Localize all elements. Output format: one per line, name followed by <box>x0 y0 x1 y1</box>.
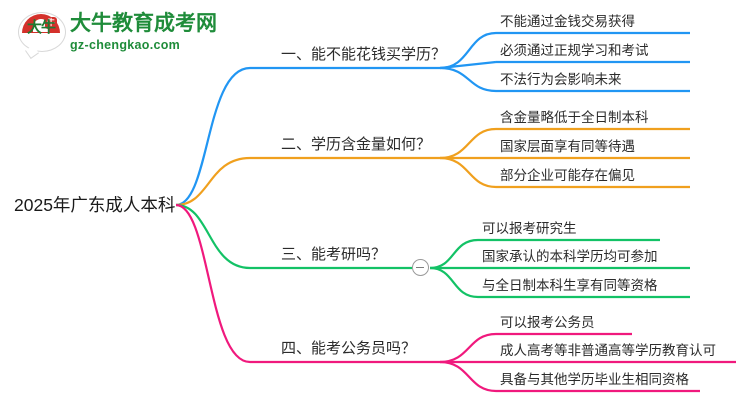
root-node[interactable]: 2025年广东成人本科 <box>14 195 175 215</box>
leaf-label-2-1[interactable]: 含金量略低于全日制本科 <box>500 110 649 126</box>
connector-root-branch-3 <box>176 205 250 268</box>
leaf-label-4-2[interactable]: 成人高考等非普通高等学历教育认可 <box>500 343 716 359</box>
leaf-label-1-3[interactable]: 不法行为会影响未来 <box>500 72 622 88</box>
branch-label-4[interactable]: 四、能考公务员吗？ <box>281 340 416 358</box>
leaf-label-3-2[interactable]: 国家承认的本科学历均可参加 <box>482 249 658 265</box>
leaf-label-3-3[interactable]: 与全日制本科生享有同等资格 <box>482 278 658 294</box>
connector-branch-2-leaf-1 <box>440 129 496 158</box>
connector-branch-4-leaf-1 <box>440 334 496 362</box>
connector-root-branch-1 <box>176 68 250 205</box>
leaf-label-2-3[interactable]: 部分企业可能存在偏见 <box>500 168 635 184</box>
leaf-label-3-1[interactable]: 可以报考研究生 <box>482 221 577 237</box>
branch-label-3[interactable]: 三、能考研吗？ <box>281 246 386 264</box>
connector-branch-3-leaf-1 <box>430 240 478 268</box>
connector-branch-4-leaf-3 <box>440 362 496 391</box>
connector-branch-1-leaf-2 <box>440 62 496 68</box>
branch-label-1[interactable]: 一、能不能花钱买学历？ <box>281 46 446 64</box>
connector-branch-1-leaf-3 <box>440 68 496 91</box>
leaf-label-2-2[interactable]: 国家层面享有同等待遇 <box>500 139 635 155</box>
connector-branch-2-leaf-3 <box>440 158 496 187</box>
branch-label-2[interactable]: 二、学历含金量如何？ <box>281 136 431 154</box>
minus-circle-icon[interactable] <box>412 259 429 276</box>
leaf-label-1-1[interactable]: 不能通过金钱交易获得 <box>500 14 635 30</box>
leaf-label-1-2[interactable]: 必须通过正规学习和考试 <box>500 43 649 59</box>
leaf-label-4-3[interactable]: 具备与其他学历毕业生相同资格 <box>500 372 689 388</box>
leaf-label-4-1[interactable]: 可以报考公务员 <box>500 315 595 331</box>
mindmap-canvas: 牛 大牛 大牛教育成考网 gz-chengkao.com <box>0 0 750 410</box>
connector-branch-3-leaf-3 <box>430 268 478 297</box>
connector-root-branch-4 <box>176 205 250 362</box>
